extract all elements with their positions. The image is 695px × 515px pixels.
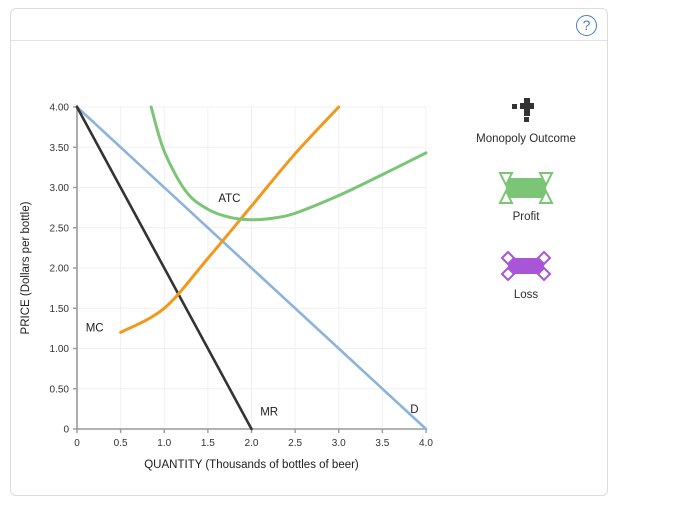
x-tick-label: 0	[74, 438, 80, 449]
y-tick-label: 0	[63, 425, 69, 436]
chart-area: 00.501.001.502.002.503.003.504.0000.51.0…	[11, 43, 451, 493]
question-circle-icon[interactable]: ?	[576, 15, 597, 36]
rectangle-triangle-handles-icon	[451, 167, 601, 209]
economics-chart: 00.501.001.502.002.503.003.504.0000.51.0…	[11, 43, 451, 493]
legend-label-loss: Loss	[451, 289, 601, 301]
y-tick-label: 3.00	[50, 183, 70, 194]
y-tick-label: 2.50	[50, 223, 70, 234]
chart-legend: Monopoly Outcome Profit	[451, 89, 601, 323]
curve-mc	[121, 107, 339, 332]
x-tick-label: 0.5	[114, 438, 128, 449]
curve-label-atc: ATC	[218, 193, 240, 205]
y-tick-label: 2.00	[50, 264, 70, 275]
curve-label-mc: MC	[86, 323, 104, 335]
x-tick-label: 3.0	[332, 438, 346, 449]
curve-label-mr: MR	[260, 406, 278, 418]
y-axis-title: PRICE (Dollars per bottle)	[20, 201, 32, 334]
y-tick-label: 3.50	[50, 143, 70, 154]
y-tick-label: 0.50	[50, 384, 70, 395]
curve-label-d: D	[410, 404, 418, 416]
y-tick-label: 4.00	[50, 103, 70, 114]
x-tick-label: 3.5	[375, 438, 389, 449]
legend-item-profit[interactable]: Profit	[451, 167, 601, 223]
panel-header: ?	[11, 9, 607, 41]
legend-item-loss[interactable]: Loss	[451, 245, 601, 301]
y-tick-label: 1.00	[50, 344, 70, 355]
chart-panel: ? 00.501.001.502.002.503.003.504.0000.51…	[10, 8, 608, 496]
cross-marker-icon	[451, 89, 601, 131]
rectangle-diamond-handles-icon	[451, 245, 601, 287]
legend-label-profit: Profit	[451, 211, 601, 223]
screenshot-root: ? 00.501.001.502.002.503.003.504.0000.51…	[0, 0, 695, 515]
x-tick-label: 2.5	[288, 438, 302, 449]
y-tick-label: 1.50	[50, 304, 70, 315]
x-tick-label: 2.0	[245, 438, 259, 449]
legend-item-monopoly-outcome[interactable]: Monopoly Outcome	[451, 89, 601, 145]
legend-label-monopoly-outcome: Monopoly Outcome	[451, 133, 601, 145]
x-axis-title: QUANTITY (Thousands of bottles of beer)	[144, 459, 359, 471]
x-tick-label: 1.5	[201, 438, 215, 449]
x-tick-label: 1.0	[157, 438, 171, 449]
x-tick-label: 4.0	[419, 438, 433, 449]
